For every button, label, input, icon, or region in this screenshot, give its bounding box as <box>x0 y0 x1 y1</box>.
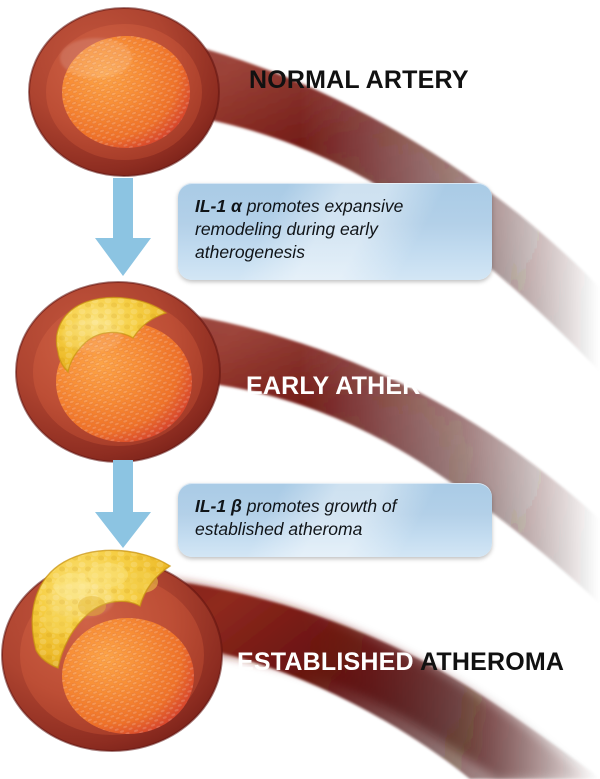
stage-label-established-segment-2: ATHEROMA <box>414 648 564 676</box>
stage-label-established-segment-1: ESTABLISHED <box>237 648 414 676</box>
stage-label-established-atheroma: ESTABLISHED ATHEROMA <box>237 650 564 675</box>
callout-il1-alpha-line-3: atherogenesis <box>195 241 476 264</box>
callout-il1-alpha-line-2: remodeling during early <box>195 218 476 241</box>
callout-il1-beta-line-2: established atheroma <box>195 518 476 541</box>
callout-il1-beta-line-1: promotes growth of <box>247 496 397 516</box>
callout-il1-beta: IL-1 β promotes growth of established at… <box>178 483 492 557</box>
callout-il1-alpha-line-1: promotes expansive <box>247 196 404 216</box>
callout-il1-alpha-emphasis: IL-1 α <box>195 196 242 216</box>
stage-label-normal-artery: NORMAL ARTERY <box>249 68 469 93</box>
arrow-normal-to-early <box>95 178 151 276</box>
arrow-early-to-established <box>95 460 151 548</box>
atherosclerosis-progression-figure: NORMAL ARTERY EARLY ATHEROGENESIS ESTABL… <box>0 0 600 779</box>
callout-il1-beta-emphasis: IL-1 β <box>195 496 242 516</box>
callout-il1-alpha: IL-1 α promotes expansive remodeling dur… <box>178 183 492 280</box>
stage-label-early-atherogenesis: EARLY ATHEROGENESIS <box>246 374 553 399</box>
